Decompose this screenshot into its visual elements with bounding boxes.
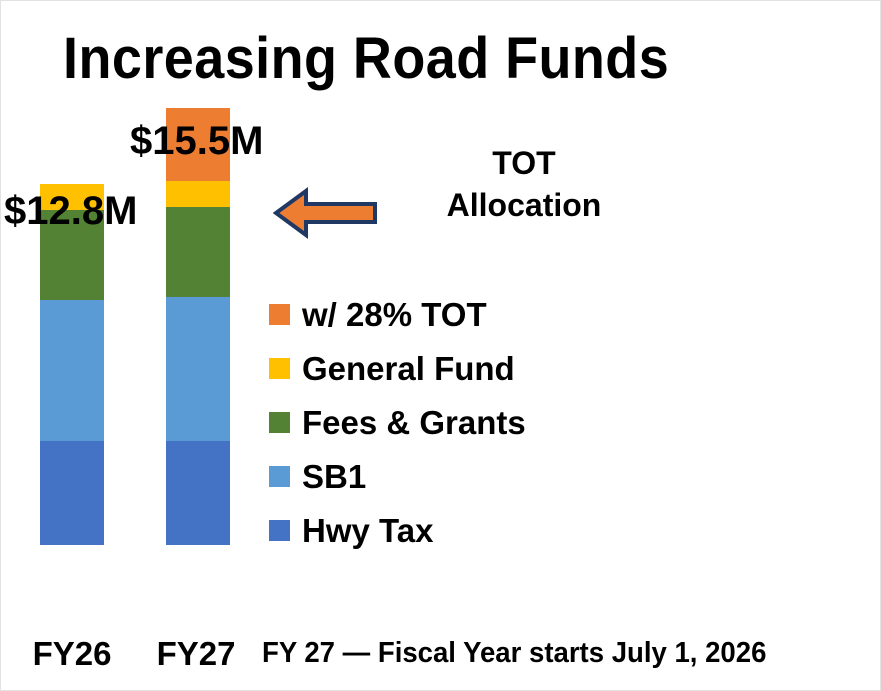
bar-segment-general-fund[interactable] — [166, 181, 230, 206]
slide-canvas: Increasing Road Funds $12.8M $15.5M FY26… — [0, 0, 881, 691]
bar-segment-sb1[interactable] — [166, 297, 230, 441]
category-label-fy26: FY26 — [17, 635, 127, 673]
legend-label: w/ 28% TOT — [302, 298, 487, 331]
legend-label: General Fund — [302, 352, 515, 385]
legend-swatch-icon — [269, 304, 290, 325]
bar-segment-fees-grants[interactable] — [166, 207, 230, 297]
legend-swatch-icon — [269, 412, 290, 433]
tot-allocation-callout: TOT Allocation — [399, 142, 649, 226]
legend-item-fees-grants[interactable]: Fees & Grants — [269, 395, 526, 449]
bar-segment-hwy-tax[interactable] — [40, 441, 104, 545]
bar-segment-hwy-tax[interactable] — [166, 441, 230, 545]
bar-segment-sb1[interactable] — [40, 300, 104, 441]
callout-line-2: Allocation — [399, 184, 649, 226]
value-label-fy26: $12.8M — [4, 189, 137, 234]
left-arrow-icon — [273, 187, 378, 239]
legend-item-sb1[interactable]: SB1 — [269, 449, 526, 503]
callout-line-1: TOT — [399, 142, 649, 184]
value-label-fy27: $15.5M — [130, 119, 263, 164]
legend-label: SB1 — [302, 460, 366, 493]
bar-stack-fy26[interactable] — [40, 184, 104, 545]
footnote-text: FY 27 — Fiscal Year starts July 1, 2026 — [262, 637, 766, 670]
legend-swatch-icon — [269, 520, 290, 541]
category-label-fy27: FY27 — [141, 635, 251, 673]
chart-plot-area — [1, 1, 271, 621]
legend-item-hwy-tax[interactable]: Hwy Tax — [269, 503, 526, 557]
bar-stack-fy27[interactable] — [166, 108, 230, 545]
legend-item-w-28-tot[interactable]: w/ 28% TOT — [269, 287, 526, 341]
legend-label: Hwy Tax — [302, 514, 433, 547]
legend-label: Fees & Grants — [302, 406, 526, 439]
legend-item-general-fund[interactable]: General Fund — [269, 341, 526, 395]
legend-swatch-icon — [269, 466, 290, 487]
chart-legend: w/ 28% TOTGeneral FundFees & GrantsSB1Hw… — [269, 287, 526, 557]
legend-swatch-icon — [269, 358, 290, 379]
